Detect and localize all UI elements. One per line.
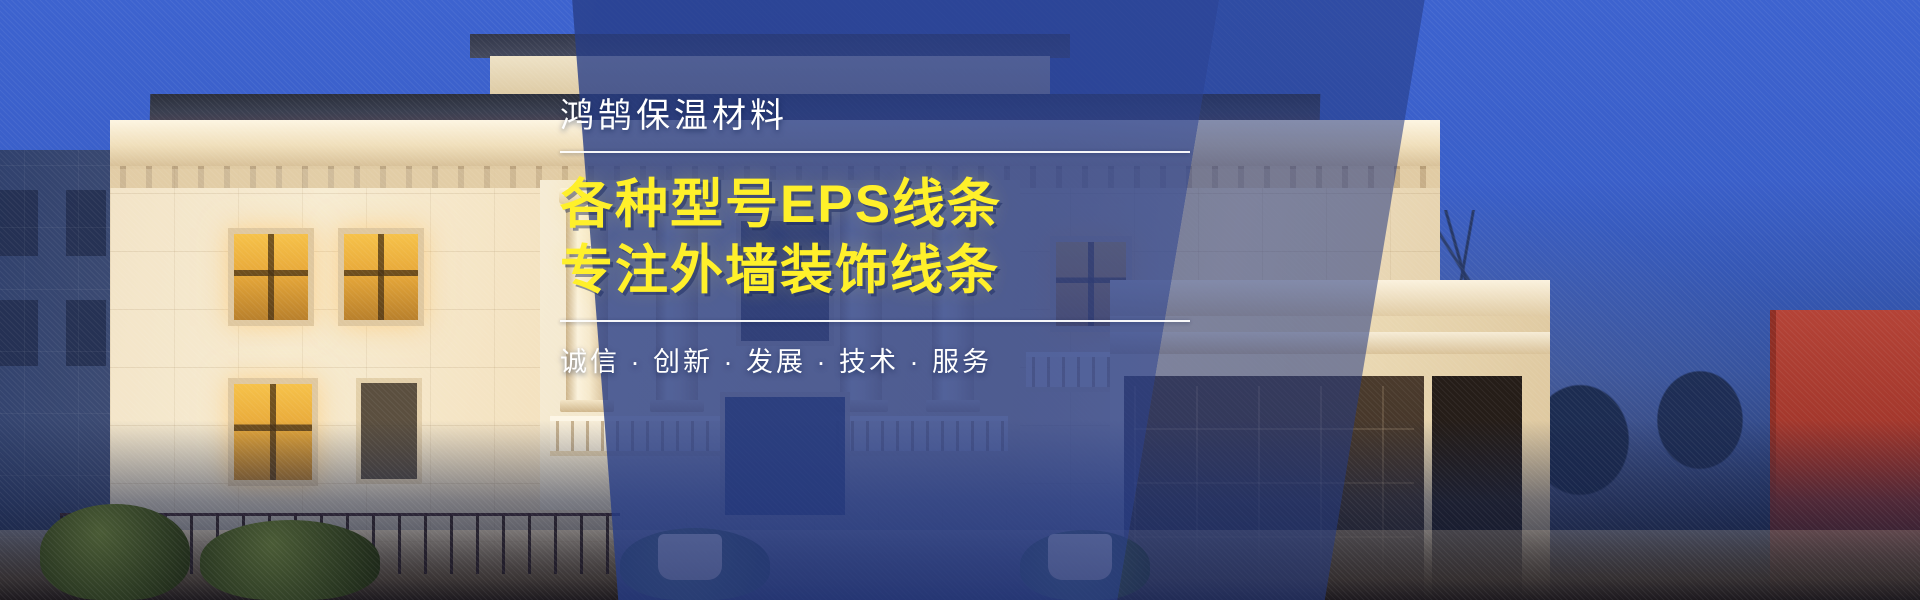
wing-window xyxy=(66,300,106,366)
banner-copy: 鸿鹄保温材料 各种型号EPS线条 专注外墙装饰线条 诚信 · 创新 · 发展 ·… xyxy=(560,96,1200,379)
shrub xyxy=(40,504,190,600)
divider-bottom xyxy=(560,320,1190,322)
lit-window xyxy=(228,228,314,326)
wing-window xyxy=(0,190,38,256)
headline-line-1: 各种型号EPS线条 xyxy=(560,175,1200,234)
wing-window xyxy=(66,190,106,256)
brand-name: 鸿鹄保温材料 xyxy=(560,96,1200,137)
shrub xyxy=(200,520,380,600)
wing-window xyxy=(0,300,38,366)
slogan-tagline: 诚信 · 创新 · 发展 · 技术 · 服务 xyxy=(560,340,1200,379)
promo-banner: 鸿鹄保温材料 各种型号EPS线条 专注外墙装饰线条 诚信 · 创新 · 发展 ·… xyxy=(0,0,1920,600)
lit-window xyxy=(338,228,424,326)
headline-line-2: 专注外墙装饰线条 xyxy=(560,241,1200,300)
divider-top xyxy=(560,151,1190,153)
